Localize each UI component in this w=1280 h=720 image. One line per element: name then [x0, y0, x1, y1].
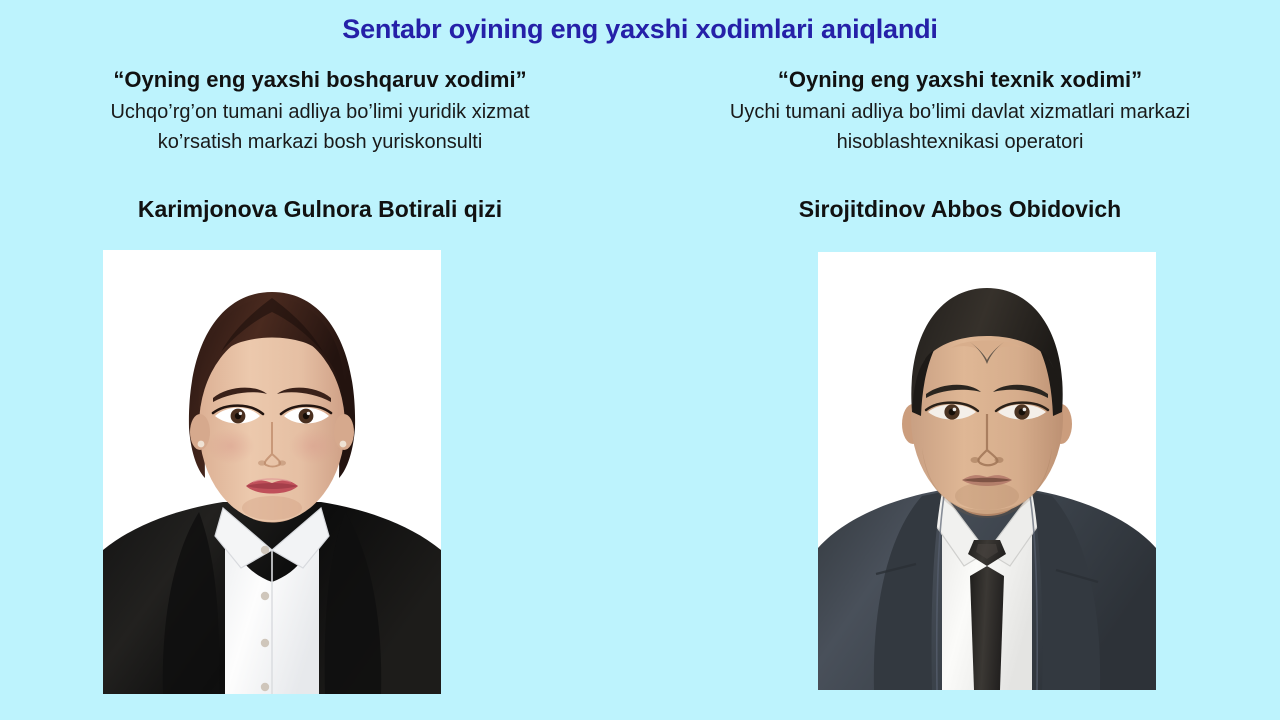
person-name-right: Sirojitdinov Abbos Obidovich [799, 195, 1121, 223]
portrait-photo-left [103, 250, 441, 694]
portrait-photo-right [818, 252, 1156, 690]
award-description-line: ko’rsatish markazi bosh yuriskonsulti [110, 127, 529, 157]
award-column-left: “Oyning eng yaxshi boshqaruv xodimi” Uch… [0, 66, 640, 706]
page-title: Sentabr oyining eng yaxshi xodimlari ani… [0, 12, 1280, 46]
portrait-man-illustration [818, 252, 1156, 690]
award-description-left: Uchqo’rg’on tumani adliya bo’limi yuridi… [110, 97, 529, 157]
award-title-right: “Oyning eng yaxshi texnik xodimi” [778, 66, 1142, 94]
columns-container: “Oyning eng yaxshi boshqaruv xodimi” Uch… [0, 66, 1280, 706]
award-description-line: hisoblashtexnikasi operatori [730, 127, 1190, 157]
award-description-line: Uychi tumani adliya bo’limi davlat xizma… [730, 97, 1190, 127]
portrait-woman-illustration [103, 250, 441, 694]
award-column-right: “Oyning eng yaxshi texnik xodimi” Uychi … [640, 66, 1280, 706]
slide-root: Sentabr oyining eng yaxshi xodimlari ani… [0, 0, 1280, 720]
person-name-left: Karimjonova Gulnora Botirali qizi [138, 195, 502, 223]
award-description-right: Uychi tumani adliya bo’limi davlat xizma… [730, 97, 1190, 157]
award-description-line: Uchqo’rg’on tumani adliya bo’limi yuridi… [110, 97, 529, 127]
award-title-left: “Oyning eng yaxshi boshqaruv xodimi” [113, 66, 526, 94]
